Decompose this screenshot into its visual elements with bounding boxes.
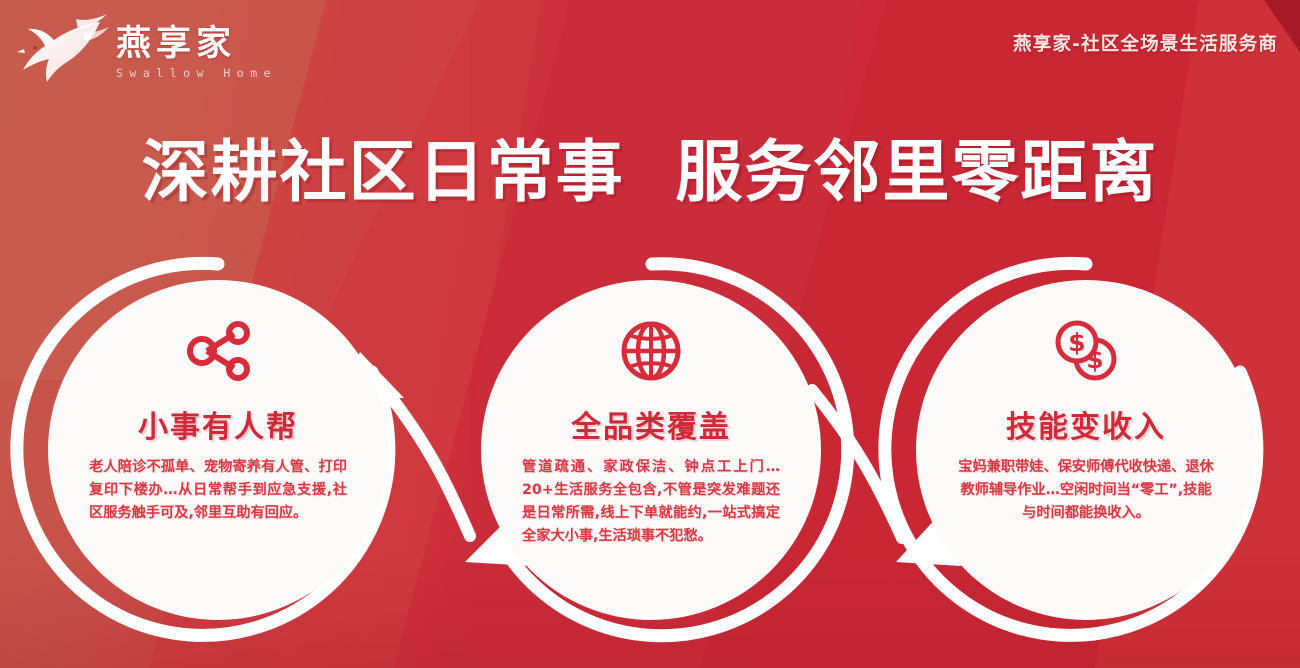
feature-card-3-body: 宝妈兼职带娃、保安师傅代收快递、退休教师辅导作业…空闲时间当“零工”,技能与时间… <box>957 456 1215 525</box>
header-tagline: 燕享家-社区全场景生活服务商 <box>1013 30 1278 56</box>
svg-text:$: $ <box>1068 328 1085 357</box>
poster-canvas: 燕享家 Swallow Home 燕享家-社区全场景生活服务商 深耕社区日常事 … <box>0 0 1300 668</box>
brand-logo: 燕享家 Swallow Home <box>14 8 277 92</box>
brand-name-en: Swallow Home <box>116 66 277 80</box>
feature-card-3-title: 技能变收入 <box>1006 402 1166 446</box>
brand-name-cn: 燕享家 <box>116 26 277 63</box>
feature-card-2-title: 全品类覆盖 <box>571 402 731 446</box>
flow-section: 小事有人帮 老人陪诊不孤单、宠物寄养有人管、打印复印下楼办…从日常帮手到应急支援… <box>0 250 1300 650</box>
feature-card-1[interactable]: 小事有人帮 老人陪诊不孤单、宠物寄养有人管、打印复印下楼办…从日常帮手到应急支援… <box>48 280 388 620</box>
share-network-icon <box>184 314 252 388</box>
globe-icon <box>619 314 683 388</box>
arrow-card1-to-card2 <box>384 388 470 536</box>
feature-card-1-title: 小事有人帮 <box>138 402 298 446</box>
two-coins-dollar-icon: $ $ <box>1050 314 1122 388</box>
feature-card-2-body: 管道疏通、家政保洁、钟点工上门…20+生活服务全包含,不管是突发难题还是日常所需… <box>522 456 780 548</box>
brand-logo-text: 燕享家 Swallow Home <box>116 20 277 81</box>
feature-card-2[interactable]: 全品类覆盖 管道疏通、家政保洁、钟点工上门…20+生活服务全包含,不管是突发难题… <box>481 280 821 620</box>
swallow-bird-icon <box>14 8 110 92</box>
feature-card-3[interactable]: $ $ 技能变收入 宝妈兼职带娃、保安师傅代收快递、退休教师辅导作业…空闲时间当… <box>916 280 1256 620</box>
feature-card-1-body: 老人陪诊不孤单、宠物寄养有人管、打印复印下楼办…从日常帮手到应急支援,社区服务触… <box>89 456 347 525</box>
page-title: 深耕社区日常事 服务邻里零距离 <box>0 118 1300 215</box>
